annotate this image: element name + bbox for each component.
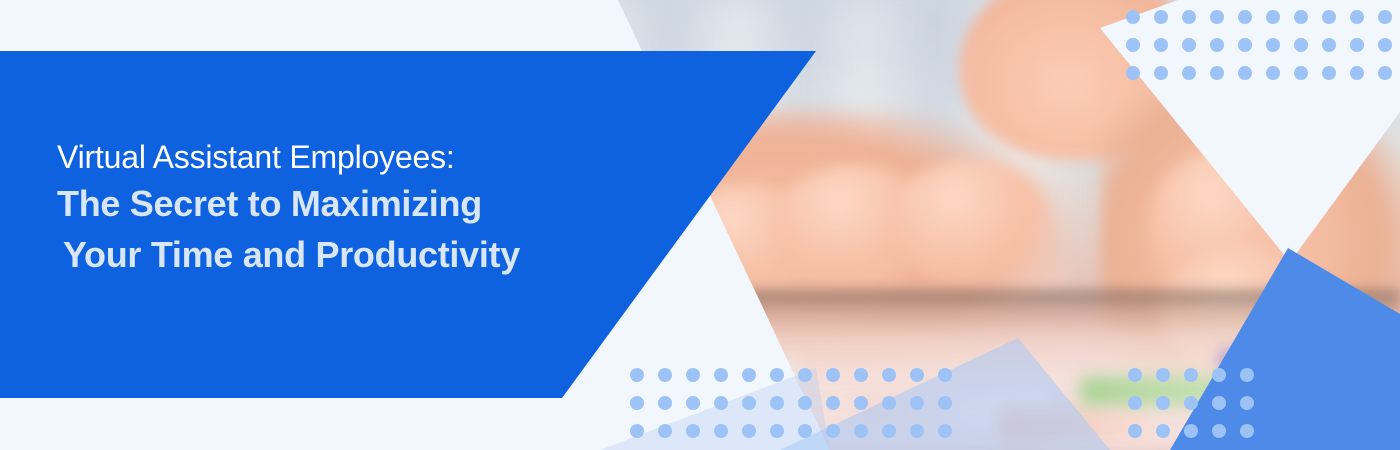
decor-dot bbox=[938, 396, 952, 410]
decor-dot bbox=[1322, 10, 1336, 24]
decor-dot bbox=[1266, 38, 1280, 52]
decor-dot bbox=[882, 368, 896, 382]
decor-dot bbox=[1128, 368, 1142, 382]
decor-dot bbox=[658, 368, 672, 382]
decor-dot bbox=[882, 424, 896, 438]
decor-dot bbox=[1378, 66, 1392, 80]
decor-dot bbox=[854, 424, 868, 438]
decor-dot bbox=[798, 368, 812, 382]
decor-dot bbox=[658, 396, 672, 410]
decor-dot bbox=[1210, 66, 1224, 80]
decor-dot bbox=[1350, 10, 1364, 24]
decor-dot bbox=[1350, 66, 1364, 80]
decor-dot bbox=[630, 368, 644, 382]
decor-dot bbox=[1126, 38, 1140, 52]
decor-dot bbox=[1238, 38, 1252, 52]
decor-dot bbox=[826, 368, 840, 382]
dot-grid-bottom bbox=[630, 368, 970, 450]
decor-dot bbox=[742, 396, 756, 410]
decor-dot bbox=[770, 368, 784, 382]
decor-dot bbox=[630, 424, 644, 438]
headline-line-3: Your Time and Productivity bbox=[57, 229, 677, 280]
dot-grid-bottom-right bbox=[1128, 368, 1278, 450]
decor-dot bbox=[742, 368, 756, 382]
decor-dot bbox=[1322, 66, 1336, 80]
decor-dot bbox=[938, 368, 952, 382]
decor-dot bbox=[714, 424, 728, 438]
decor-dot bbox=[1184, 424, 1198, 438]
decor-dot bbox=[1156, 368, 1170, 382]
decor-dot bbox=[1182, 10, 1196, 24]
decor-dot bbox=[1238, 66, 1252, 80]
headline-line-1: Virtual Assistant Employees: bbox=[57, 136, 677, 178]
decor-dot bbox=[686, 368, 700, 382]
decor-dot bbox=[938, 424, 952, 438]
decor-dot bbox=[714, 396, 728, 410]
decor-dot bbox=[798, 396, 812, 410]
decor-dot bbox=[1350, 38, 1364, 52]
dot-grid-top-right bbox=[1126, 10, 1400, 100]
decor-dot bbox=[1184, 396, 1198, 410]
decor-dot bbox=[1266, 10, 1280, 24]
decor-dot bbox=[1266, 66, 1280, 80]
decor-dot bbox=[1126, 66, 1140, 80]
decor-dot bbox=[1154, 66, 1168, 80]
decor-dot bbox=[1240, 424, 1254, 438]
decor-dot bbox=[826, 396, 840, 410]
decor-dot bbox=[742, 424, 756, 438]
decor-dot bbox=[1128, 424, 1142, 438]
headline-line-2: The Secret to Maximizing bbox=[57, 178, 677, 229]
headline-block: Virtual Assistant Employees: The Secret … bbox=[57, 136, 677, 280]
decor-dot bbox=[882, 396, 896, 410]
banner-root: 3024681012141618202224262859313335373941… bbox=[0, 0, 1400, 450]
decor-dot bbox=[1294, 66, 1308, 80]
decor-dot bbox=[1240, 368, 1254, 382]
decor-dot bbox=[1182, 38, 1196, 52]
decor-dot bbox=[798, 424, 812, 438]
decor-dot bbox=[1154, 38, 1168, 52]
decor-dot bbox=[1212, 396, 1226, 410]
decor-dot bbox=[1128, 396, 1142, 410]
decor-dot bbox=[1156, 396, 1170, 410]
decor-dot bbox=[1126, 10, 1140, 24]
decor-dot bbox=[910, 368, 924, 382]
decor-dot bbox=[854, 368, 868, 382]
decor-dot bbox=[1240, 396, 1254, 410]
decor-dot bbox=[1322, 38, 1336, 52]
decor-dot bbox=[770, 396, 784, 410]
decor-dot bbox=[1212, 424, 1226, 438]
knuckle-shape bbox=[890, 160, 1050, 285]
decor-dot bbox=[1294, 38, 1308, 52]
decor-dot bbox=[1156, 424, 1170, 438]
decor-dot bbox=[826, 424, 840, 438]
decor-dot bbox=[658, 424, 672, 438]
decor-dot bbox=[1238, 10, 1252, 24]
decor-dot bbox=[854, 396, 868, 410]
decor-dot bbox=[1210, 38, 1224, 52]
decor-dot bbox=[714, 368, 728, 382]
decor-dot bbox=[686, 396, 700, 410]
decor-dot bbox=[1184, 368, 1198, 382]
decor-dot bbox=[910, 424, 924, 438]
decor-dot bbox=[770, 424, 784, 438]
decor-dot bbox=[1294, 10, 1308, 24]
decor-dot bbox=[1378, 38, 1392, 52]
decor-dot bbox=[1210, 10, 1224, 24]
decor-dot bbox=[1378, 10, 1392, 24]
decor-dot bbox=[1154, 10, 1168, 24]
decor-dot bbox=[630, 396, 644, 410]
decor-dot bbox=[1212, 368, 1226, 382]
decor-dot bbox=[686, 424, 700, 438]
decor-dot bbox=[910, 396, 924, 410]
decor-dot bbox=[1182, 66, 1196, 80]
